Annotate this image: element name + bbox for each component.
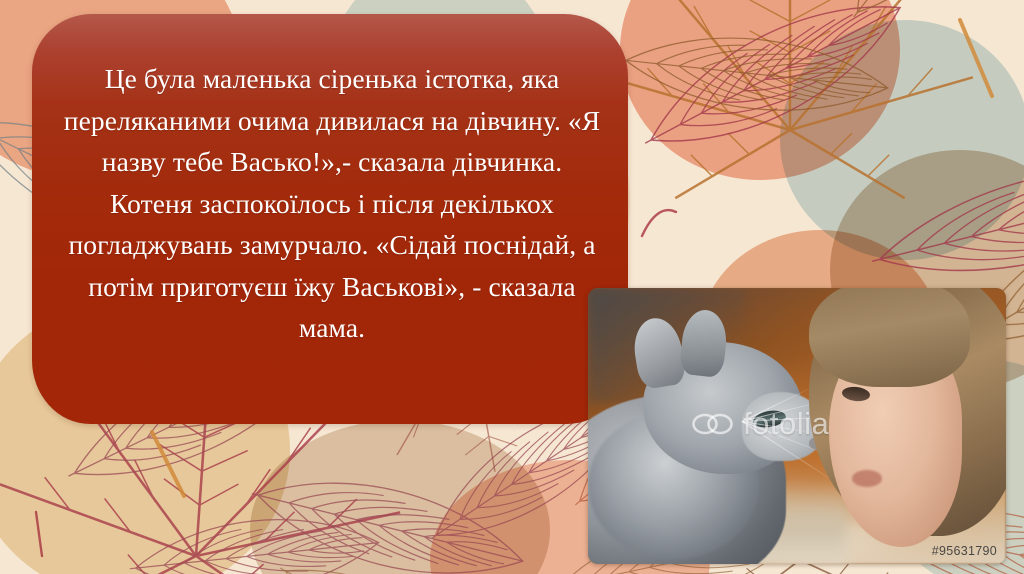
cat-ear-left (630, 315, 687, 390)
girl-lips (852, 470, 882, 487)
text-panel: Це була маленька сіренька істотка, яка п… (32, 14, 628, 424)
slide: Це була маленька сіренька істотка, яка п… (0, 0, 1024, 574)
girl-fringe (809, 288, 970, 387)
girl-subject (805, 288, 1006, 564)
cat-ear-right (678, 308, 729, 378)
photo-scene (588, 288, 1006, 564)
story-text: Це була маленька сіренька істотка, яка п… (62, 58, 602, 349)
photo-cat-and-girl: fotolia #95631790 (588, 288, 1006, 564)
